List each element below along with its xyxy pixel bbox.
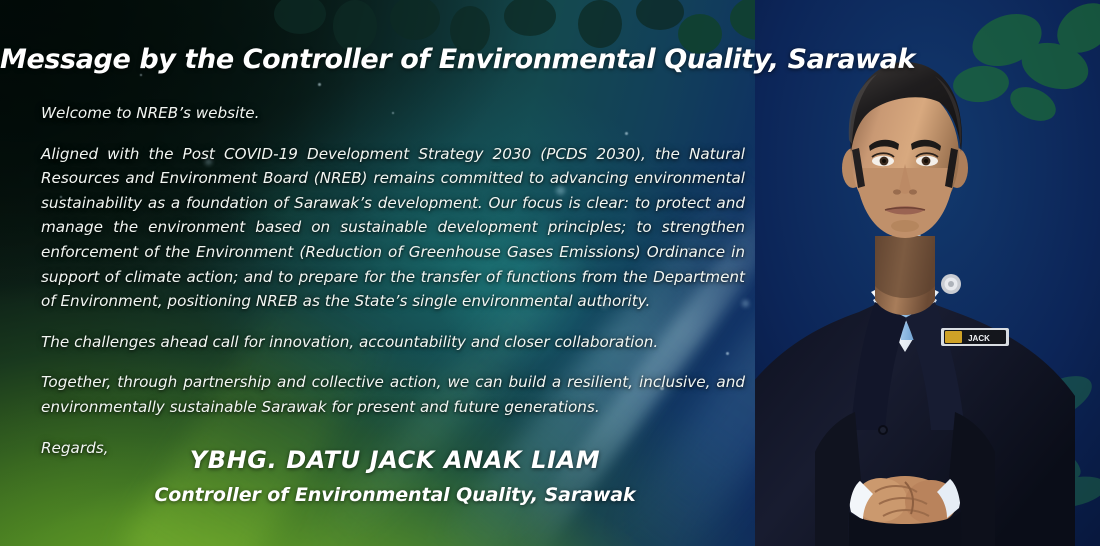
body-paragraph-1: Aligned with the Post COVID-19 Developme…	[41, 142, 745, 314]
message-body: Welcome to NREB’s website. Aligned with …	[41, 101, 745, 460]
page-title: Message by the Controller of Environment…	[0, 44, 790, 75]
message-text-column: Message by the Controller of Environment…	[0, 0, 790, 546]
portrait-photo: JACK	[755, 0, 1100, 546]
message-banner: JACK	[0, 0, 1100, 546]
signature-role: Controller of Environmental Quality, Sar…	[0, 484, 790, 506]
body-paragraph-2: The challenges ahead call for innovation…	[41, 330, 745, 355]
signature-name: YBHG. DATU JACK ANAK LIAM	[0, 446, 790, 474]
name-badge-text: JACK	[968, 334, 990, 343]
greeting-paragraph: Welcome to NREB’s website.	[41, 101, 745, 126]
body-paragraph-3: Together, through partnership and collec…	[41, 370, 745, 419]
